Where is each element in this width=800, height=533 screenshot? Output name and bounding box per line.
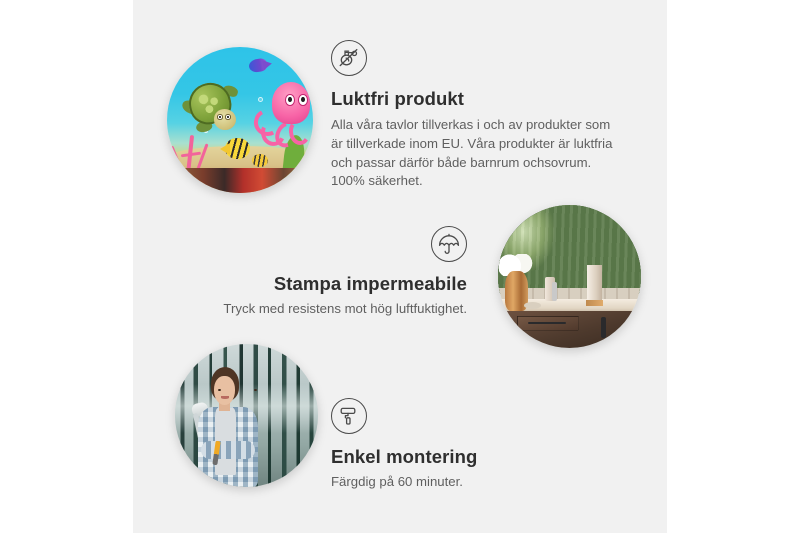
woman-with-paint-roller-forest-thumbnail bbox=[175, 344, 318, 487]
feature-waterproof-body: Tryck med resistens mot hög luftfuktighe… bbox=[215, 300, 467, 319]
wooden-vanity bbox=[507, 311, 641, 348]
feature-mounting: Enkel montering Färgdig på 60 minuter. bbox=[331, 398, 581, 492]
underwater-cartoon-mural-thumbnail bbox=[167, 47, 313, 193]
sea-turtle bbox=[185, 79, 246, 137]
blue-fish bbox=[248, 57, 268, 73]
forest-mural-scene bbox=[175, 344, 318, 487]
underwater-scene bbox=[167, 47, 313, 193]
umbrella-icon bbox=[431, 226, 467, 262]
bathroom-botanical-wallpaper-thumbnail bbox=[498, 205, 641, 348]
feature-scent-heading: Luktfri produkt bbox=[331, 87, 621, 110]
bathroom-scene bbox=[498, 205, 641, 348]
striped-yellow-fish-small bbox=[252, 154, 268, 167]
woman-decorator bbox=[195, 367, 267, 487]
foreground-rocks bbox=[179, 168, 313, 193]
octopus bbox=[258, 82, 311, 149]
feature-scent: Luktfri produkt Alla våra tavlor tillver… bbox=[331, 40, 621, 191]
faucet bbox=[552, 282, 556, 301]
product-features-infographic: Luktfri produkt Alla våra tavlor tillver… bbox=[0, 0, 800, 533]
pillar-candle bbox=[587, 265, 603, 301]
feature-scent-body: Alla våra tavlor tillverkas i och av pro… bbox=[331, 116, 621, 191]
paint-roller-icon bbox=[331, 398, 367, 434]
feature-waterproof: Stampa impermeabile Tryck med resistens … bbox=[215, 226, 467, 319]
no-spray-bottle-icon bbox=[331, 40, 367, 76]
feature-mounting-body: Färgdig på 60 minuter. bbox=[331, 473, 581, 492]
feature-mounting-heading: Enkel montering bbox=[331, 445, 581, 468]
feature-waterproof-heading: Stampa impermeabile bbox=[215, 272, 467, 295]
